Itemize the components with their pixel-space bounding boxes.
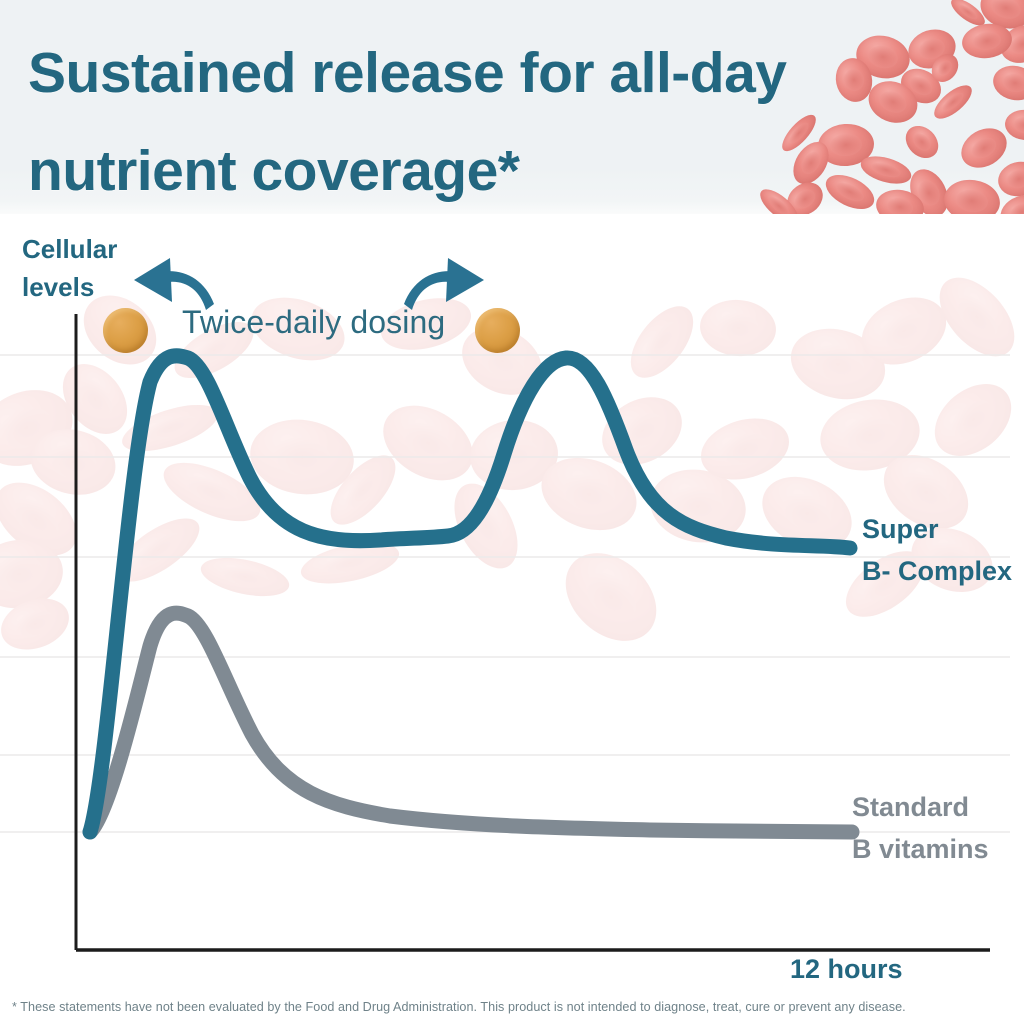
pill-dose-2	[475, 308, 520, 353]
header-band: Sustained release for all-day nutrient c…	[0, 0, 1024, 214]
chart-container: Cellular levels Twice-daily dosing Super…	[0, 214, 1024, 1024]
series-label-standard-b-vitamins: Standard B vitamins	[852, 787, 989, 871]
y-axis-label: Cellular levels	[22, 231, 172, 306]
blood-cell-icon	[995, 18, 1024, 70]
blood-cell-icon	[960, 21, 1014, 62]
chart-gridlines	[0, 355, 1010, 832]
blood-cell-icon	[990, 62, 1024, 104]
pill-dose-1	[103, 308, 148, 353]
dose-arrow-right-icon	[404, 258, 484, 310]
fda-disclaimer: * These statements have not been evaluat…	[12, 1000, 1018, 1014]
blood-cell-icon	[995, 157, 1024, 200]
series-line-super-b-complex	[90, 356, 850, 832]
series-line-standard-b-vitamins	[90, 613, 852, 832]
blood-cell-icon	[975, 0, 1024, 35]
blood-cell-icon	[941, 176, 1002, 214]
blood-cell-icon	[926, 49, 963, 87]
blood-cell-icon	[947, 0, 989, 30]
x-axis-label: 12 hours	[790, 954, 903, 985]
infographic-root: Sustained release for all-day nutrient c…	[0, 0, 1024, 1024]
blood-cell-icon	[996, 189, 1024, 214]
blood-cell-icon	[929, 80, 977, 125]
blood-cell-icon	[1004, 108, 1024, 142]
blood-cell-icon	[954, 120, 1014, 175]
page-title: Sustained release for all-day nutrient c…	[28, 24, 928, 214]
dosing-annotation: Twice-daily dosing	[182, 304, 445, 341]
series-label-super-b-complex: Super B- Complex	[862, 509, 1012, 593]
